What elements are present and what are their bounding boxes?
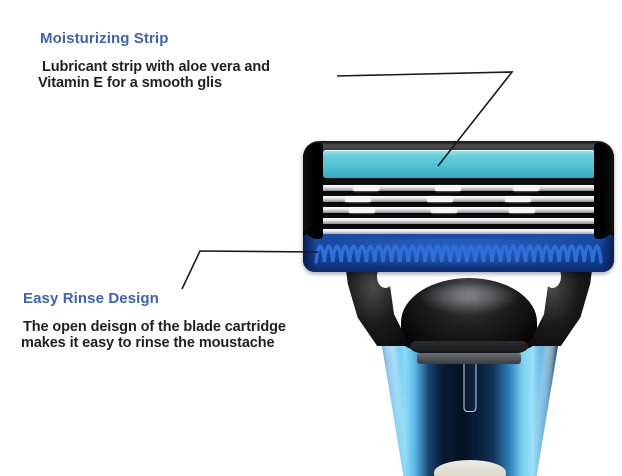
blade-cartridge	[303, 141, 614, 272]
cartridge-side-left	[303, 143, 323, 239]
blade-notch	[513, 186, 539, 191]
pivot-dome-highlight	[417, 284, 521, 314]
comb-guard	[303, 234, 614, 272]
cartridge-side-right	[594, 143, 614, 239]
blade-stack	[317, 183, 600, 241]
blade-notch	[345, 197, 371, 202]
blade-notch	[431, 208, 457, 213]
blade-notch	[505, 197, 531, 202]
comb-guard-wave-pattern	[312, 239, 605, 267]
callout-body-line: Vitamin E for a smooth glis	[38, 75, 270, 91]
callout-heading: Moisturizing Strip	[40, 30, 270, 47]
blade-notch	[349, 208, 375, 213]
comb-guard-shadow-right	[600, 234, 614, 272]
blade-notch	[435, 186, 461, 191]
blade-notch	[509, 208, 535, 213]
product-diagram-canvas: Moisturizing Strip Lubricant strip with …	[0, 0, 622, 476]
lubricant-strip	[323, 150, 595, 178]
callout-body-line: Lubricant strip with aloe vera and	[42, 59, 270, 75]
callout-body-line: makes it easy to rinse the moustache	[21, 335, 286, 351]
pivot-collar	[417, 353, 521, 364]
callout-easy-rinse-design: Easy Rinse Design The open deisgn of the…	[21, 290, 286, 351]
handle-center-slot	[464, 358, 477, 412]
comb-guard-shadow-left	[303, 234, 317, 272]
callout-body-line: The open deisgn of the blade cartridge	[23, 319, 286, 335]
pivot-yoke	[345, 262, 593, 354]
callout-heading: Easy Rinse Design	[23, 290, 286, 307]
callout-moisturizing-strip: Moisturizing Strip Lubricant strip with …	[38, 30, 270, 91]
blade	[319, 218, 598, 224]
blade-notch	[427, 197, 453, 202]
blade-notch	[353, 186, 379, 191]
